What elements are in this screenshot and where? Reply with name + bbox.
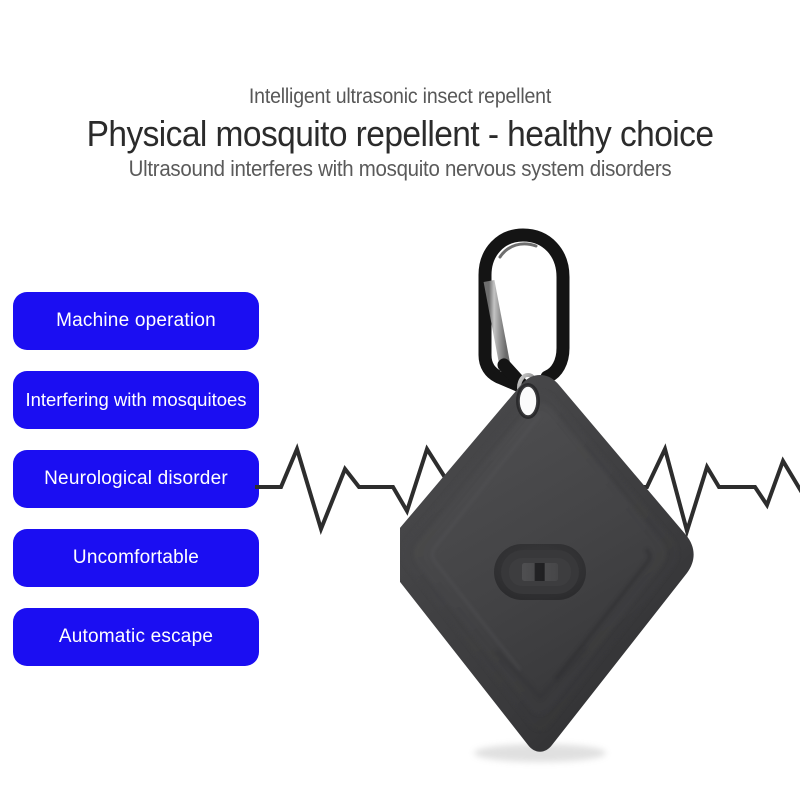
feature-pill-neurological-disorder[interactable]: Neurological disorder — [13, 450, 259, 508]
device-power-button[interactable] — [494, 544, 586, 600]
carabiner-clip-icon — [462, 235, 563, 393]
device-body — [400, 375, 694, 762]
feature-label: Neurological disorder — [44, 468, 228, 490]
product-image — [400, 205, 730, 775]
feature-label: Uncomfortable — [73, 547, 199, 569]
page-title: Physical mosquito repellent - healthy ch… — [28, 113, 772, 154]
subtitle-text: Ultrasound interferes with mosquito nerv… — [28, 157, 772, 181]
feature-pill-uncomfortable[interactable]: Uncomfortable — [13, 529, 259, 587]
feature-label: Automatic escape — [59, 626, 213, 648]
feature-list: Machine operation Interfering with mosqu… — [13, 292, 261, 687]
feature-pill-interfering-with-mosquitoes[interactable]: Interfering with mosquitoes — [13, 371, 259, 429]
feature-pill-automatic-escape[interactable]: Automatic escape — [13, 608, 259, 666]
eyebrow-text: Intelligent ultrasonic insect repellent — [28, 86, 772, 107]
feature-label: Machine operation — [56, 310, 216, 332]
feature-pill-machine-operation[interactable]: Machine operation — [13, 292, 259, 350]
feature-label: Interfering with mosquitoes — [25, 389, 246, 411]
